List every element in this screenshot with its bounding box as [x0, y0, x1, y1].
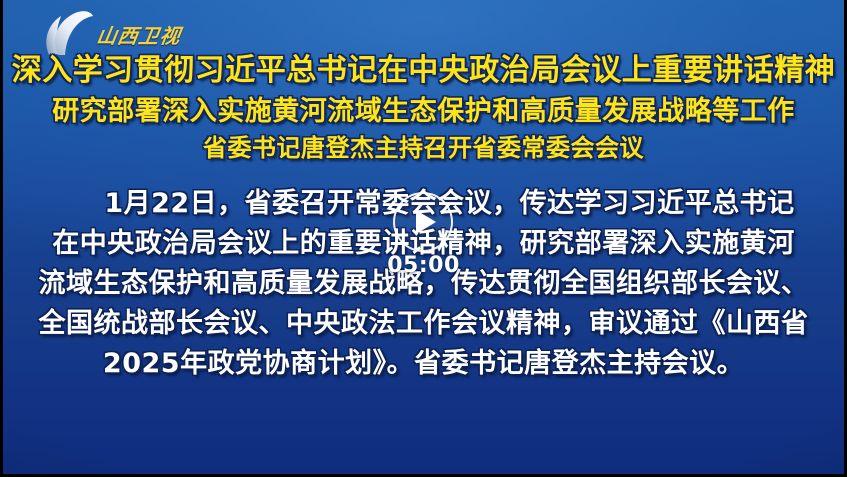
video-player-frame[interactable]: 山西卫视 深入学习贯彻习近平总书记在中央政治局会议上重要讲话精神 研究部署深入实…	[0, 0, 847, 477]
channel-wordmark: 山西卫视	[95, 20, 184, 49]
headline-line-3: 省委书记唐登杰主持召开省委常委会会议	[3, 136, 844, 160]
body-line-3: 流域生态保护和高质量发展战略，传达贯彻全国组织部长会议、	[3, 270, 844, 297]
headline-block: 深入学习贯彻习近平总书记在中央政治局会议上重要讲话精神 研究部署深入实施黄河流域…	[3, 56, 844, 160]
headline-line-1: 深入学习贯彻习近平总书记在中央政治局会议上重要讲话精神	[3, 56, 844, 86]
body-line-4: 全国统战部长会议、中央政法工作会议精神，审议通过《山西省	[3, 310, 844, 337]
play-button[interactable]	[393, 192, 453, 252]
channel-logo: 山西卫视	[41, 10, 181, 58]
play-triangle-icon	[416, 210, 436, 234]
headline-line-2: 研究部署深入实施黄河流域生态保护和高质量发展战略等工作	[3, 98, 844, 125]
shanxi-tv-leaf-logo-icon	[41, 10, 95, 58]
body-line-5: 2025年政党协商计划》。省委书记唐登杰主持会议。	[3, 350, 844, 377]
